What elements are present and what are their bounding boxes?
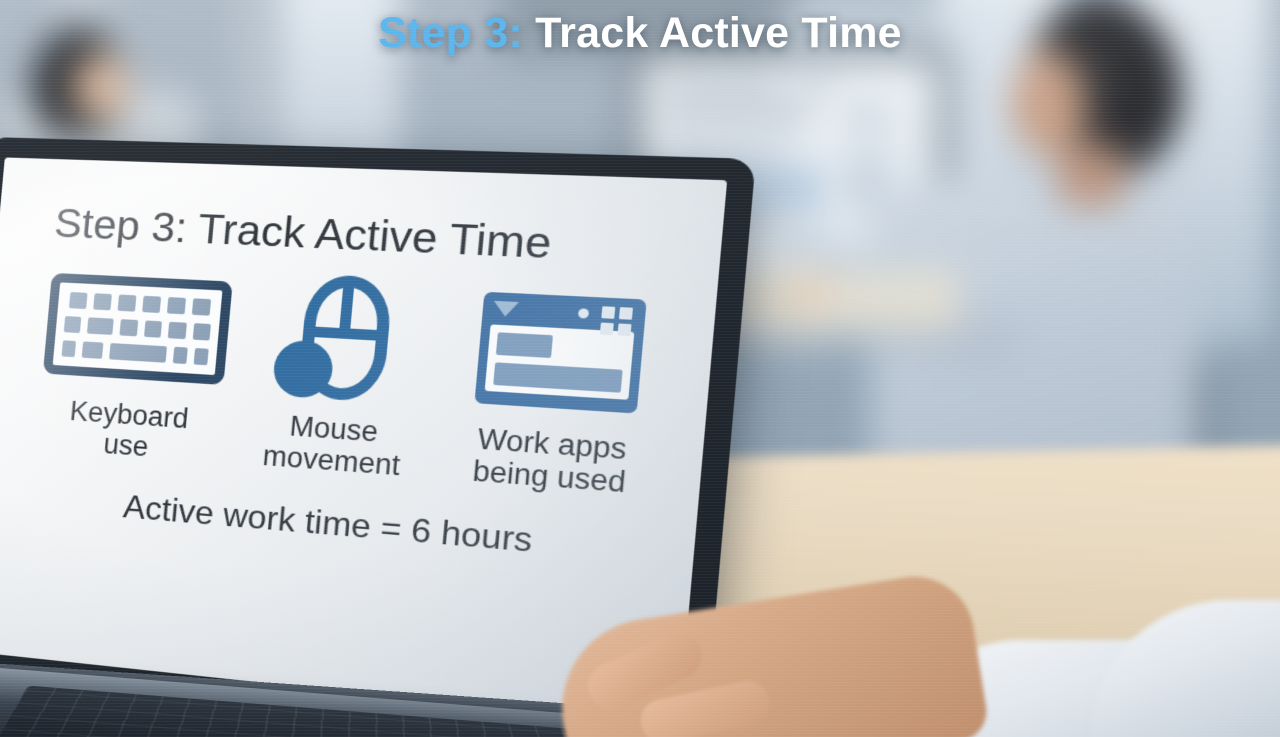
signal-label-mouse: Mouse movement bbox=[261, 409, 404, 482]
mouse-icon-wrap bbox=[271, 274, 413, 407]
window-content-row-1 bbox=[496, 332, 626, 362]
keyboard-key bbox=[120, 319, 138, 336]
monitor-side-box-1 bbox=[852, 106, 882, 128]
circle-dot-icon bbox=[578, 308, 589, 318]
keyboard-key bbox=[142, 296, 161, 313]
tracking-signals-row: Keyboard use bbox=[31, 263, 673, 502]
monitor-content-line-1 bbox=[658, 82, 778, 92]
window-content-area bbox=[485, 324, 635, 399]
signal-label-work-apps: Work apps being used bbox=[471, 423, 630, 500]
keyboard-row-3 bbox=[62, 340, 209, 365]
keyboard-key bbox=[82, 341, 104, 358]
headline-title-label: Track Active Time bbox=[523, 9, 902, 57]
monitor-content-line-3 bbox=[658, 110, 808, 120]
work-apps-window-icon bbox=[474, 292, 646, 414]
window-content-bar bbox=[496, 332, 554, 358]
signal-column-work-apps: Work apps being used bbox=[442, 282, 674, 502]
keyboard-key bbox=[191, 298, 210, 315]
keyboard-row-1 bbox=[66, 292, 213, 316]
work-apps-icon-wrap bbox=[474, 283, 648, 422]
background-person-right-neck bbox=[1058, 146, 1124, 206]
monitor-side-box-2 bbox=[852, 154, 882, 176]
window-content-bar bbox=[493, 362, 622, 392]
monitor-content-line-4 bbox=[658, 146, 788, 154]
keyboard-row-2 bbox=[64, 316, 211, 341]
keyboard-key bbox=[64, 316, 82, 333]
window-content-row-2 bbox=[493, 362, 622, 392]
headline-overlay: Step 3: Track Active Time bbox=[0, 9, 1280, 58]
background-person-left-face bbox=[72, 52, 130, 122]
keyboard-key bbox=[62, 340, 77, 357]
keyboard-key bbox=[144, 320, 162, 337]
grid-square bbox=[601, 306, 615, 319]
monitor-content-line-2 bbox=[790, 82, 838, 92]
keyboard-key bbox=[93, 293, 112, 310]
keyboard-key bbox=[168, 322, 187, 339]
grid-squares-icon bbox=[600, 306, 633, 336]
signal-column-mouse: Mouse movement bbox=[231, 272, 450, 485]
keyboard-spacebar bbox=[109, 343, 167, 363]
mouse-icon bbox=[271, 273, 413, 409]
keyboard-key bbox=[117, 294, 136, 311]
signal-label-keyboard: Keyboard use bbox=[66, 396, 190, 466]
grid-square bbox=[600, 323, 614, 336]
screenshot-root: Step 3: Track Active Time bbox=[0, 0, 1280, 737]
grid-square bbox=[617, 323, 631, 336]
keyboard-key bbox=[194, 348, 209, 365]
keyboard-icon bbox=[43, 273, 233, 385]
keyboard-key bbox=[87, 317, 114, 335]
keyboard-key bbox=[173, 347, 188, 364]
keyboard-key bbox=[68, 292, 87, 309]
keyboard-icon-wrap bbox=[42, 263, 234, 396]
signal-column-keyboard: Keyboard use bbox=[31, 263, 237, 469]
grid-square bbox=[619, 307, 633, 320]
keyboard-key bbox=[192, 323, 211, 340]
triangle-icon bbox=[493, 301, 519, 317]
headline-step-label: Step 3: bbox=[378, 9, 523, 57]
slide-title: Step 3: Track Active Time bbox=[52, 199, 687, 274]
monitor-side-box-3 bbox=[852, 182, 882, 204]
keyboard-key bbox=[166, 297, 185, 314]
